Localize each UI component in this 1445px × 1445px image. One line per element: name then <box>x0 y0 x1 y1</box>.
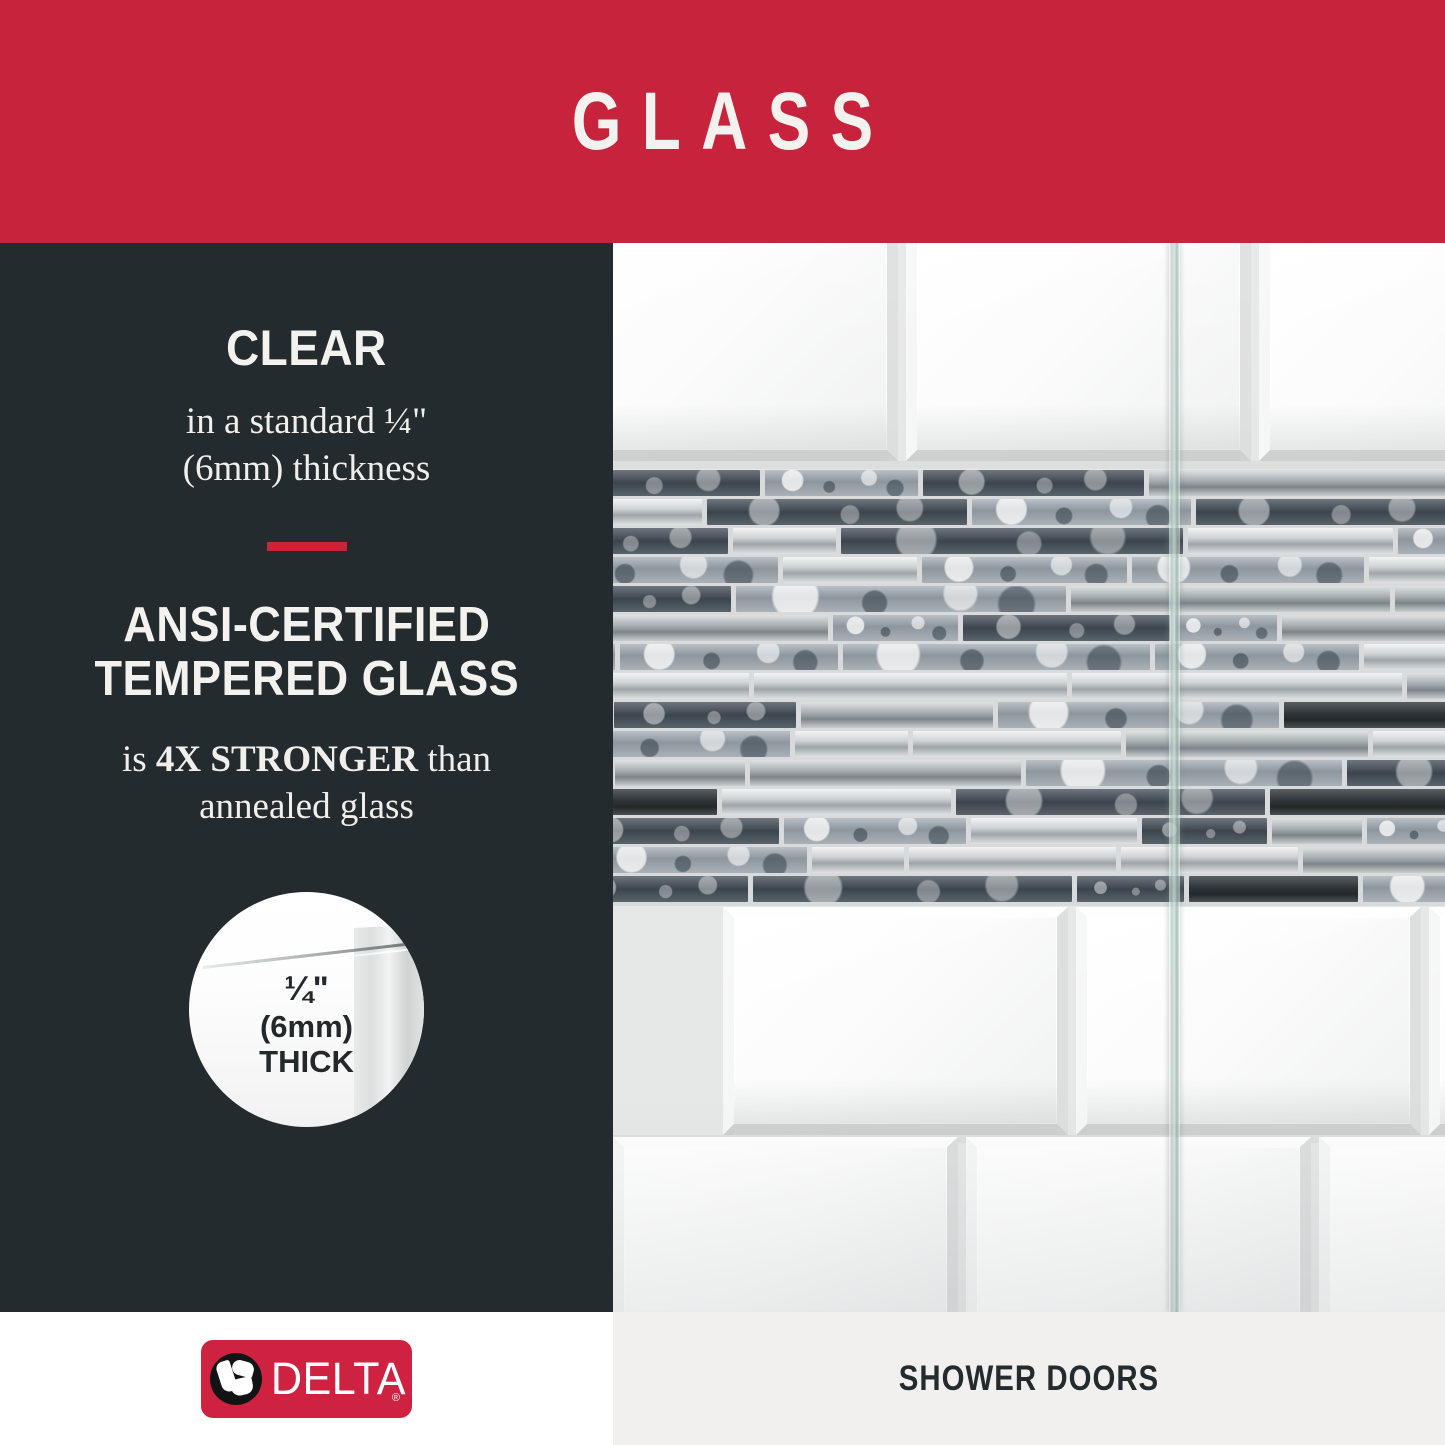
footer-brand-area: DELTA ® <box>0 1312 613 1445</box>
badge-line-2: (6mm) <box>189 1009 424 1044</box>
clear-description: in a standard ¼" (6mm) thickness <box>183 399 431 492</box>
glass-thickness-badge: ¼" (6mm) THICK <box>189 892 424 1127</box>
delta-logo[interactable]: DELTA ® <box>201 1340 412 1418</box>
shower-door-tile-wall-photo <box>613 243 1445 1312</box>
badge-label: ¼" (6mm) THICK <box>189 970 424 1079</box>
glass-door-edge <box>1169 243 1180 1312</box>
tempered-glass-description: is 4X STRONGER than annealed glass <box>122 737 491 830</box>
clear-heading: CLEAR <box>226 321 387 375</box>
badge-line-1: ¼" <box>189 970 424 1009</box>
left-info-panel: CLEAR in a standard ¼" (6mm) thickness A… <box>0 243 613 1312</box>
strength-line-2: annealed glass <box>199 786 414 827</box>
badge-line-3: THICK <box>189 1044 424 1079</box>
delta-wordmark: DELTA <box>271 1353 406 1405</box>
mosaic-accent-band <box>613 470 1445 906</box>
delta-triangle-icon <box>210 1353 262 1405</box>
strength-suffix: than <box>418 739 491 780</box>
tempered-heading-line-1: ANSI-CERTIFIED <box>123 598 490 652</box>
footer: DELTA ® SHOWER DOORS <box>0 1312 1445 1445</box>
clear-description-line-2: (6mm) thickness <box>183 448 431 489</box>
category-label: SHOWER DOORS <box>899 1359 1159 1399</box>
header-banner: GLASS <box>0 0 1445 243</box>
tempered-glass-heading: ANSI-CERTIFIED TEMPERED GLASS <box>94 599 519 707</box>
registered-trademark-icon: ® <box>392 1392 400 1404</box>
strength-prefix: is <box>122 739 156 780</box>
section-divider <box>267 542 347 551</box>
clear-description-line-1: in a standard ¼" <box>186 401 427 442</box>
footer-category-area: SHOWER DOORS <box>613 1312 1445 1445</box>
page-title: GLASS <box>159 0 1286 243</box>
tempered-heading-line-2: TEMPERED GLASS <box>94 652 519 706</box>
infographic-page: GLASS CLEAR in a standard ¼" (6mm) thick… <box>0 0 1445 1445</box>
strength-emphasis: 4X STRONGER <box>156 739 418 780</box>
